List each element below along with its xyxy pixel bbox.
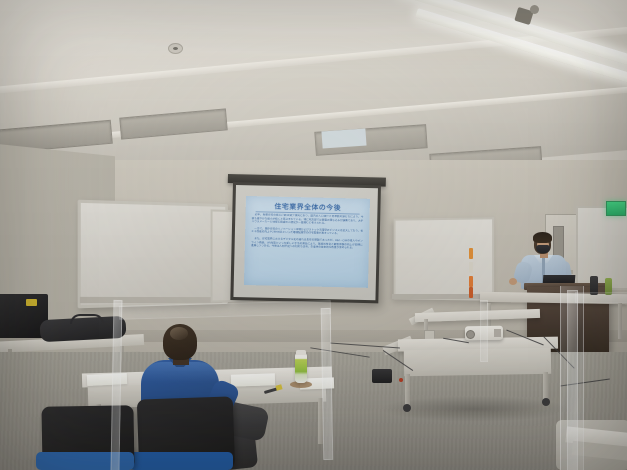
table-leg (543, 372, 548, 400)
slide-paragraph: 一方で、既存住宅のリノベーション市場およびストック活用型のビジネスは拡大しており… (251, 227, 363, 237)
indicator-led-icon (399, 378, 403, 382)
projector-vent (494, 329, 501, 337)
whiteboard-right (394, 217, 494, 300)
monitor-label-sticker (26, 299, 37, 306)
green-tea-bottle (295, 353, 307, 383)
whiteboard-left-tray (80, 297, 223, 303)
slide-paragraph: また、住宅業界におけるデジタル化の遅れは長年の課題であったが、BIM・CIMの導… (251, 237, 363, 250)
attendee-hair-highlight (170, 327, 188, 340)
marker-icon (469, 276, 473, 287)
acrylic-partition-post (480, 300, 488, 362)
power-strip-box (372, 369, 392, 383)
seminar-room-photo: 住宅業界全体の今後 近年、新築住宅の着工戸数は減少傾向にあり、国内の人口減少と世… (0, 0, 627, 470)
table-caster (542, 398, 550, 406)
slide-paragraph: 近年、新築住宅の着工戸数は減少傾向にあり、国内の人口減少と世帯数の頭打ちにより、… (252, 213, 364, 226)
presenter-left-hand (509, 278, 517, 285)
smoke-detector-icon (168, 43, 183, 54)
projected-slide: 住宅業界全体の今後 近年、新築住宅の着工戸数は減少傾向にあり、国内の人口減少と世… (244, 196, 370, 288)
bag-handle (70, 314, 104, 324)
table-leg (405, 374, 410, 406)
table-caster (403, 404, 411, 412)
handout-paper (231, 373, 275, 387)
projector-table-modesty-panel (404, 348, 551, 377)
marker-icon (469, 248, 473, 259)
ceiling-panel-light (321, 128, 366, 148)
presenter-hair (533, 232, 552, 243)
marker-icon (469, 262, 473, 273)
whiteboard-left (78, 200, 228, 309)
office-chair-seat (129, 452, 233, 470)
bottle-cap (296, 350, 306, 355)
counter-leg (618, 303, 622, 339)
slide-body: 近年、新築住宅の着工戸数は減少傾向にあり、国内の人口減少と世帯数の頭打ちにより、… (250, 213, 363, 284)
whiteboard-far-right (576, 206, 627, 290)
projector-lens-icon (466, 330, 475, 339)
acrylic-partition-post (567, 290, 578, 470)
whiteboard-right-tray (392, 294, 492, 299)
face-mask-icon (536, 245, 550, 253)
acrylic-partition-panel (575, 292, 627, 303)
light-mount-bolt (530, 5, 539, 14)
slide-title: 住宅業界全体の今後 (256, 200, 360, 214)
marker-icon (469, 287, 473, 298)
exit-sign-icon (606, 201, 626, 216)
